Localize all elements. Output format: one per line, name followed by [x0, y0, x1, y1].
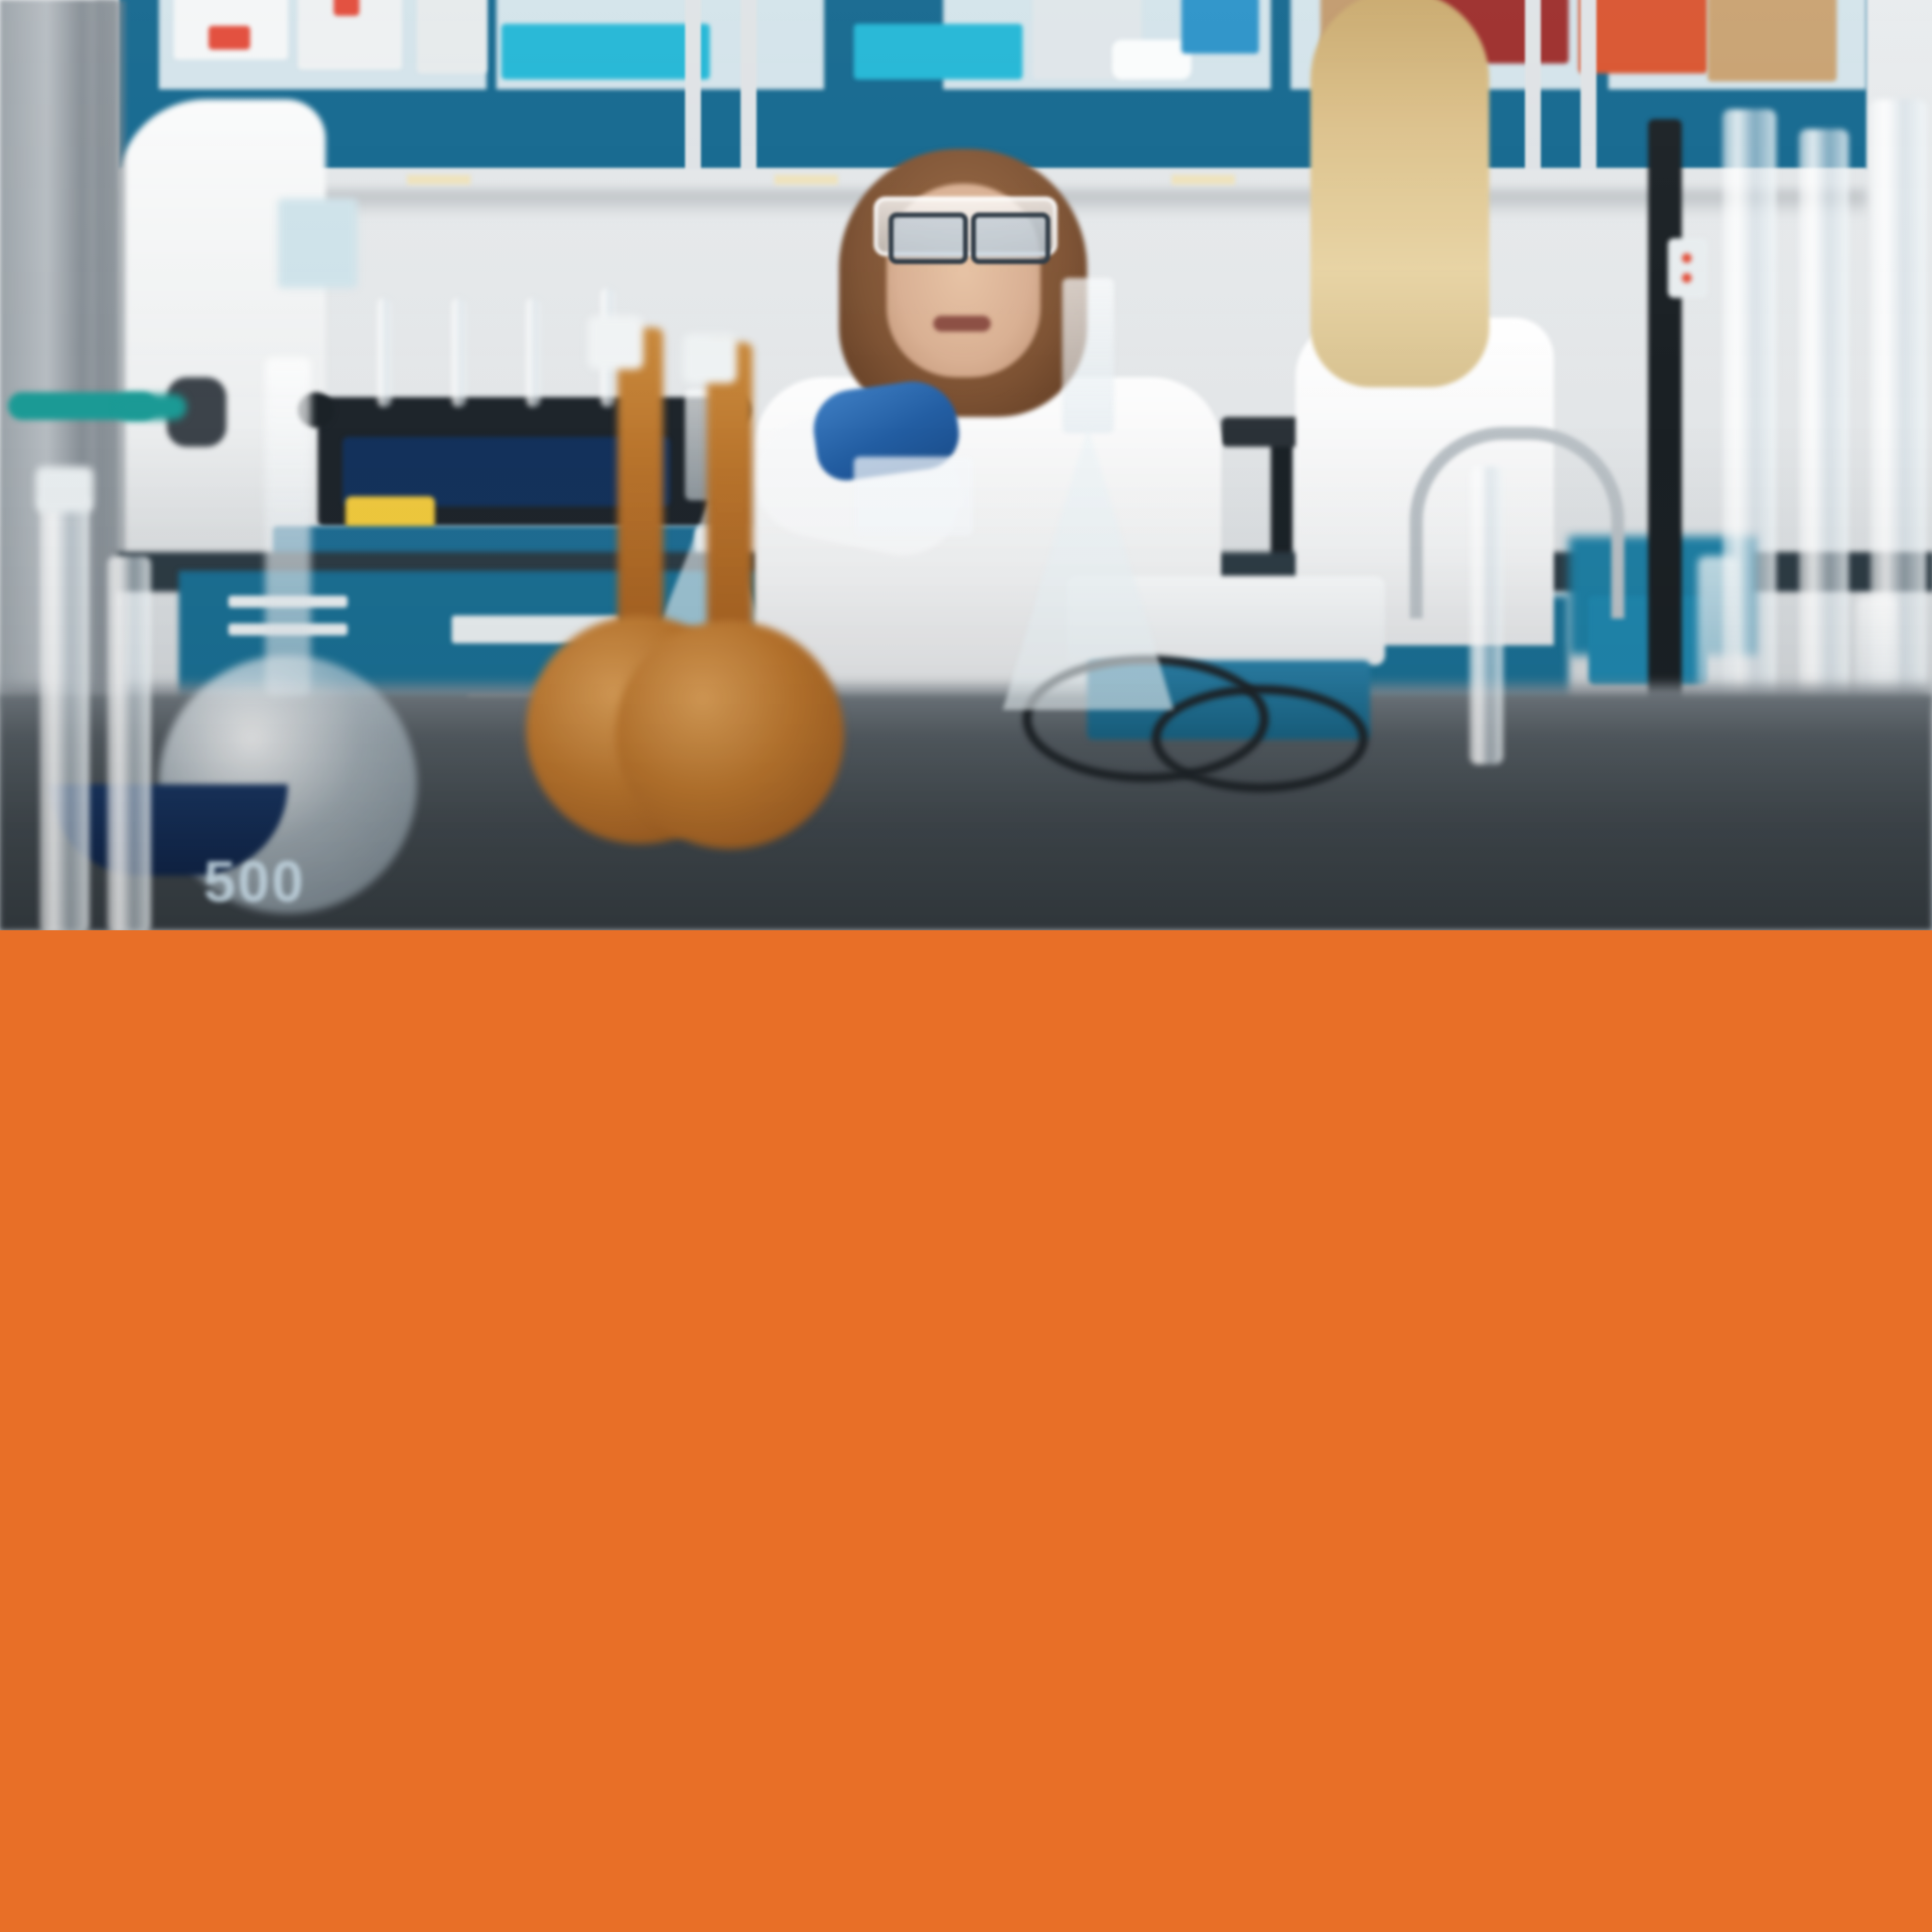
orange-message-panel: THERE IS A FINE LINE BETWEEN PASSION AND…	[0, 930, 1932, 1932]
photo-tone-overlay	[0, 0, 1932, 930]
laboratory-scientists-photo: 500	[0, 0, 1932, 930]
photo-scene: 500	[0, 0, 1932, 930]
poster-root: 500 THERE IS A FINE LINE BETWEEN PASSION…	[0, 0, 1932, 1932]
